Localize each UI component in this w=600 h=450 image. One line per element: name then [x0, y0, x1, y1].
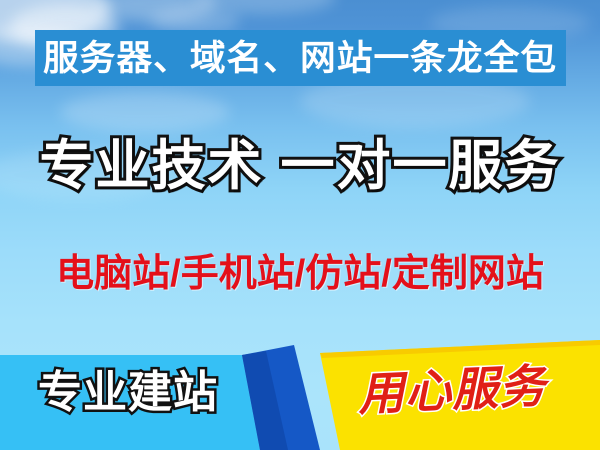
cloud-wisp-icon	[60, 92, 230, 132]
service-list-text: 电脑站/手机站/仿站/定制网站	[56, 253, 544, 297]
headline-band-text: 服务器、域名、网站一条龙全包	[43, 41, 557, 76]
service-list: 电脑站/手机站/仿站/定制网站	[0, 253, 600, 297]
promo-poster: 服务器、域名、网站一条龙全包 专业技术 一对一服务 电脑站/手机站/仿站/定制网…	[0, 0, 600, 450]
cloud-wisp-icon	[96, 0, 216, 22]
main-slogan: 专业技术 一对一服务	[0, 136, 600, 196]
ribbon-left-label-text: 专业建站	[38, 370, 218, 416]
headline-band: 服务器、域名、网站一条龙全包	[35, 30, 566, 86]
main-slogan-text: 专业技术 一对一服务	[39, 136, 560, 196]
bottom-ribbon: 专业建站 用心服务	[0, 340, 600, 450]
ribbon-right-label-text: 用心服务	[357, 362, 547, 419]
cloud-wisp-icon	[196, 0, 336, 14]
ribbon-left-label: 专业建站	[18, 370, 238, 416]
